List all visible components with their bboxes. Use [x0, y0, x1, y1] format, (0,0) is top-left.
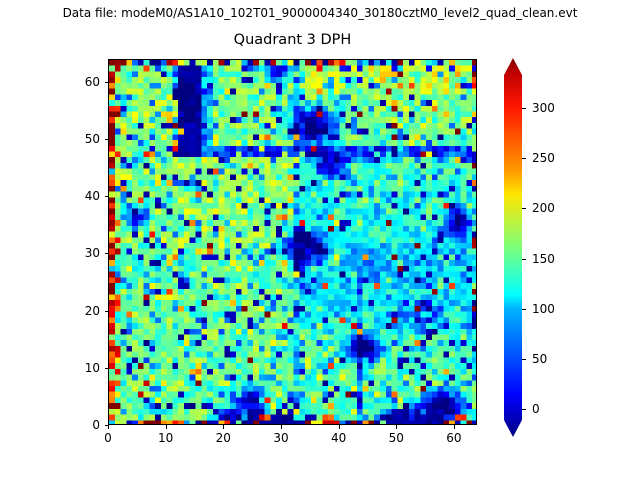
chart-title: Quadrant 3 DPH [108, 32, 477, 48]
heatmap-axes[interactable] [108, 59, 477, 425]
colorbar-tick-mark [522, 158, 526, 159]
x-tick-mark [108, 425, 109, 429]
colorbar-tick-label: 300 [532, 101, 555, 115]
colorbar-gradient [504, 58, 574, 440]
x-tick-mark [281, 425, 282, 429]
data-file-suptitle: Data file: modeM0/AS1A10_102T01_90000043… [0, 6, 640, 20]
y-tick-mark [105, 139, 109, 140]
colorbar-tick-mark [522, 108, 526, 109]
x-tick-mark [396, 425, 397, 429]
colorbar-tick-mark [522, 409, 526, 410]
y-tick-label: 60 [48, 75, 100, 89]
y-tick-mark [105, 368, 109, 369]
colorbar-tick-mark [522, 359, 526, 360]
colorbar-tick-label: 0 [532, 402, 540, 416]
x-tick-label: 50 [389, 431, 404, 445]
y-tick-label: 10 [48, 361, 100, 375]
figure-canvas: Data file: modeM0/AS1A10_102T01_90000043… [0, 0, 640, 480]
x-tick-label: 10 [158, 431, 173, 445]
y-tick-mark [105, 425, 109, 426]
colorbar-tick-label: 200 [532, 201, 555, 215]
x-tick-mark [339, 425, 340, 429]
x-tick-mark [454, 425, 455, 429]
y-tick-mark [105, 311, 109, 312]
colorbar-tick-mark [522, 309, 526, 310]
heatmap-image[interactable] [109, 60, 477, 425]
x-tick-label: 30 [273, 431, 288, 445]
y-tick-label: 20 [48, 304, 100, 318]
colorbar-tick-label: 250 [532, 151, 555, 165]
x-tick-label: 20 [216, 431, 231, 445]
y-tick-mark [105, 196, 109, 197]
colorbar-tick-label: 150 [532, 252, 555, 266]
y-tick-label: 40 [48, 189, 100, 203]
x-tick-label: 40 [331, 431, 346, 445]
x-tick-mark [223, 425, 224, 429]
x-tick-label: 0 [104, 431, 112, 445]
colorbar-tick-mark [522, 259, 526, 260]
y-tick-label: 50 [48, 132, 100, 146]
colorbar-tick-label: 50 [532, 352, 547, 366]
colorbar[interactable]: 050100150200250300 [504, 58, 574, 440]
x-tick-label: 60 [446, 431, 461, 445]
y-tick-label: 30 [48, 246, 100, 260]
y-tick-label: 0 [48, 418, 100, 432]
y-tick-mark [105, 253, 109, 254]
x-tick-mark [166, 425, 167, 429]
y-tick-mark [105, 82, 109, 83]
colorbar-tick-mark [522, 208, 526, 209]
colorbar-tick-label: 100 [532, 302, 555, 316]
